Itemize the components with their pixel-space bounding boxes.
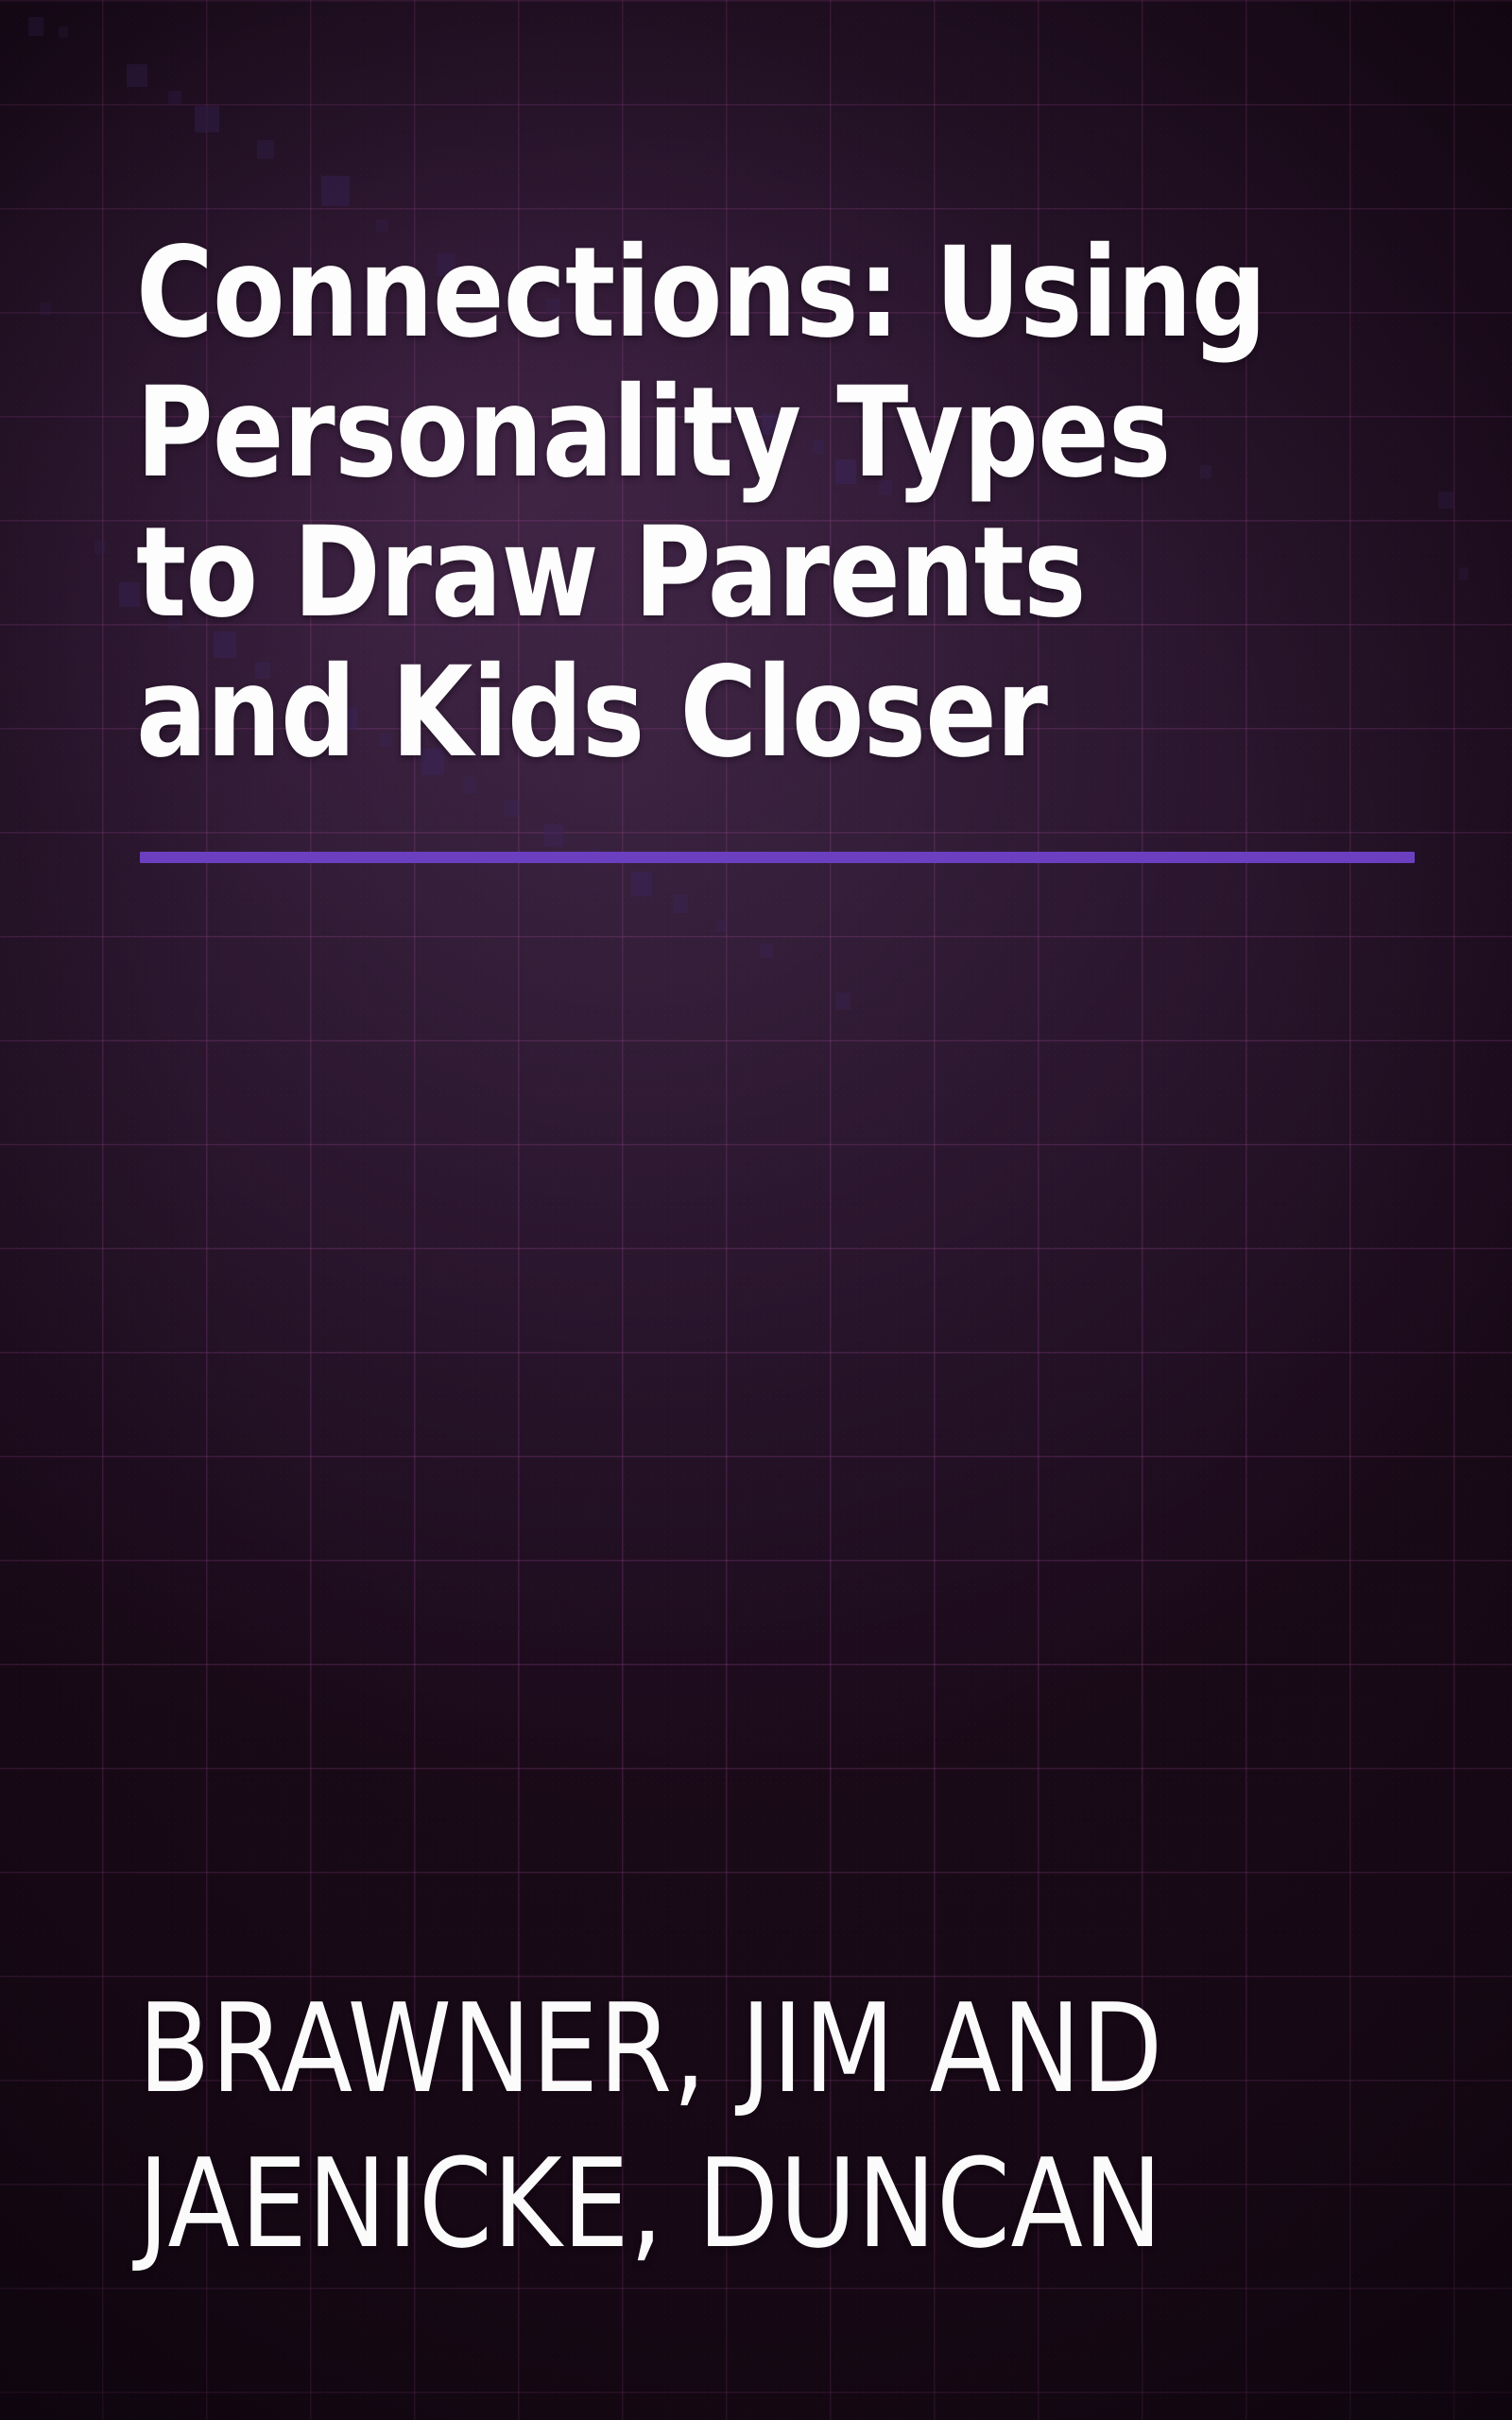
- cover-title: Connections: Using Personality Types to …: [136, 223, 1440, 783]
- title-line-4: and Kids Closer: [136, 643, 1238, 783]
- author-line-2: JAENICKE, DUNCAN: [138, 2126, 1276, 2281]
- title-line-3: to Draw Parents: [136, 503, 1238, 643]
- cover-author: BRAWNER, JIM AND JAENICKE, DUNCAN: [138, 1971, 1461, 2281]
- title-line-2: Personality Types: [136, 363, 1238, 503]
- author-line-1: BRAWNER, JIM AND: [138, 1971, 1276, 2126]
- book-cover: Connections: Using Personality Types to …: [0, 0, 1512, 2420]
- title-author-divider: [140, 852, 1415, 863]
- title-line-1: Connections: Using: [136, 223, 1238, 363]
